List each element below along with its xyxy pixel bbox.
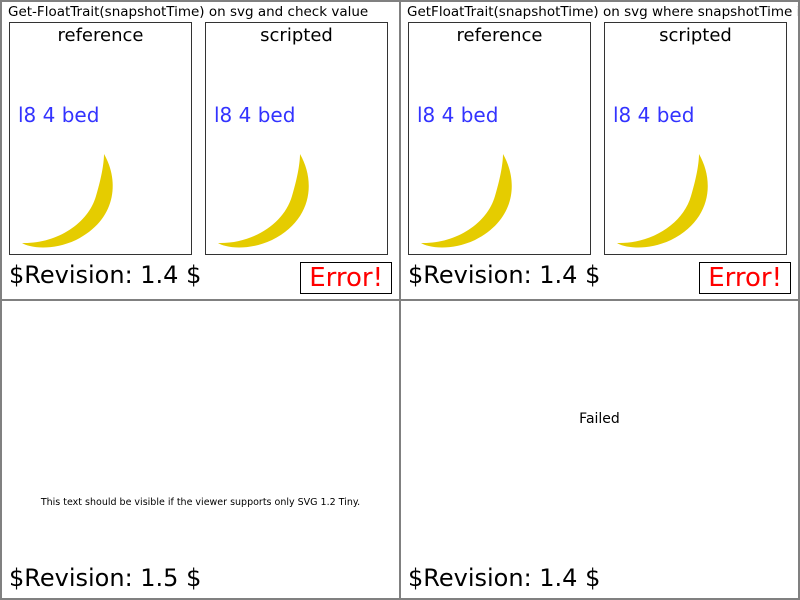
reference-pane-label: reference xyxy=(10,25,191,46)
test-panel-bottom-left: This text should be visible if the viewe… xyxy=(0,300,400,600)
test-title: Get-FloatTrait(snapshotTime) on svg and … xyxy=(8,4,400,20)
scripted-pane: scripted l8 4 bed xyxy=(205,22,388,255)
status-badge: Error! xyxy=(699,262,791,294)
scripted-pane: scripted l8 4 bed xyxy=(604,22,787,255)
render-pane-row: reference l8 4 bed scripted l8 4 bed xyxy=(401,22,798,258)
test-panel-bottom-right: Failed $Revision: 1.4 $ xyxy=(400,300,800,600)
scripted-blue-text: l8 4 bed xyxy=(613,103,694,127)
scripted-blue-text: l8 4 bed xyxy=(214,103,295,127)
reference-pane-label: reference xyxy=(409,25,590,46)
revision-label: $Revision: 1.4 $ xyxy=(408,564,600,592)
reference-blue-text: l8 4 bed xyxy=(417,103,498,127)
test-panel-top-right: GetFloatTrait(snapshotTime) on svg where… xyxy=(400,0,800,300)
test-title: GetFloatTrait(snapshotTime) on svg where… xyxy=(407,4,800,20)
status-row: $Revision: 1.4 $ Error! xyxy=(401,259,798,299)
status-text: Failed xyxy=(401,411,798,427)
crescent-moon-icon xyxy=(212,148,352,253)
render-pane-row: reference l8 4 bed scripted l8 4 bed xyxy=(2,22,399,258)
status-badge: Error! xyxy=(300,262,392,294)
revision-label: $Revision: 1.4 $ xyxy=(408,261,600,289)
test-panel-top-left: Get-FloatTrait(snapshotTime) on svg and … xyxy=(0,0,400,300)
revision-label: $Revision: 1.5 $ xyxy=(9,564,201,592)
crescent-moon-icon xyxy=(415,148,555,253)
reference-blue-text: l8 4 bed xyxy=(18,103,99,127)
crescent-moon-icon xyxy=(611,148,751,253)
tiny-support-note: This text should be visible if the viewe… xyxy=(2,497,399,508)
status-row: $Revision: 1.4 $ Error! xyxy=(2,259,399,299)
reference-pane: reference l8 4 bed xyxy=(9,22,192,255)
crescent-moon-icon xyxy=(16,148,156,253)
scripted-pane-label: scripted xyxy=(206,25,387,46)
reference-pane: reference l8 4 bed xyxy=(408,22,591,255)
test-results-grid: Get-FloatTrait(snapshotTime) on svg and … xyxy=(0,0,800,600)
revision-label: $Revision: 1.4 $ xyxy=(9,261,201,289)
scripted-pane-label: scripted xyxy=(605,25,786,46)
